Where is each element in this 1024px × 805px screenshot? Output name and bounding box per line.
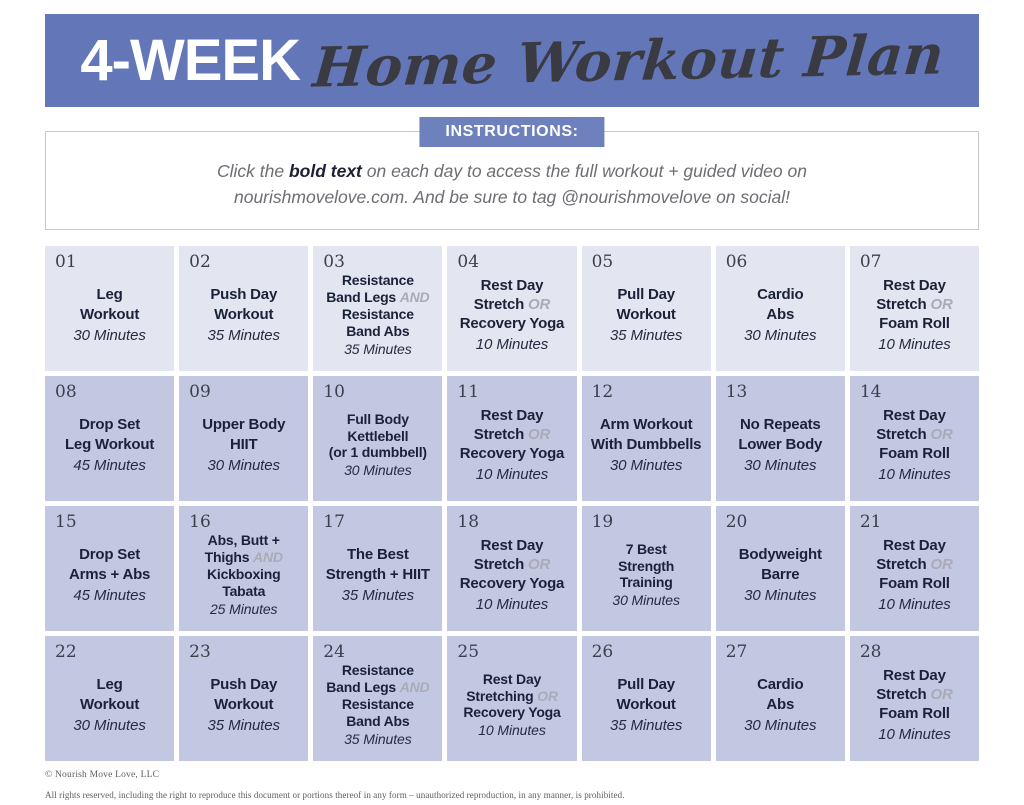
- instructions-section: INSTRUCTIONS: Click the bold text on eac…: [45, 131, 979, 230]
- header-banner: 4-WEEK Home Workout Plan: [45, 14, 979, 107]
- calendar-week-row: 15Drop Set Arms + Abs45 Minutes16Abs, Bu…: [45, 506, 979, 631]
- day-cell-body: Resistance Band Legs AND Resistance Band…: [319, 657, 436, 753]
- calendar-day-cell[interactable]: 28Rest Day Stretch OR Foam Roll10 Minute…: [850, 636, 979, 761]
- workout-title[interactable]: Drop Set Leg Workout: [65, 415, 154, 453]
- workout-title[interactable]: Rest Day Stretch OR Recovery Yoga: [460, 406, 564, 464]
- workout-title[interactable]: Bodyweight Barre: [739, 545, 822, 583]
- calendar-day-cell[interactable]: 03Resistance Band Legs AND Resistance Ba…: [313, 246, 442, 371]
- workout-duration: 10 Minutes: [476, 466, 548, 483]
- day-cell-body: Rest Day Stretch OR Foam Roll10 Minutes: [856, 397, 973, 493]
- workout-duration: 25 Minutes: [210, 601, 277, 617]
- day-cell-body: Abs, Butt + Thighs AND Kickboxing Tabata…: [185, 527, 302, 623]
- workout-duration: 10 Minutes: [878, 336, 950, 353]
- workout-connector: OR: [528, 426, 550, 443]
- calendar-day-cell[interactable]: 13No Repeats Lower Body30 Minutes: [716, 376, 845, 501]
- workout-duration: 35 Minutes: [208, 327, 280, 344]
- instructions-bold-text: bold text: [289, 161, 362, 181]
- calendar-grid: 01Leg Workout30 Minutes02Push Day Workou…: [45, 246, 979, 761]
- workout-plan-page: 4-WEEK Home Workout Plan INSTRUCTIONS: C…: [0, 14, 1024, 805]
- workout-duration: 30 Minutes: [744, 587, 816, 604]
- calendar-day-cell[interactable]: 22Leg Workout30 Minutes: [45, 636, 174, 761]
- workout-title[interactable]: Rest Day Stretch OR Recovery Yoga: [460, 276, 564, 334]
- workout-duration: 35 Minutes: [344, 731, 411, 747]
- workout-duration: 35 Minutes: [342, 587, 414, 604]
- day-cell-body: Full Body Kettlebell (or 1 dumbbell)30 M…: [319, 397, 436, 493]
- day-cell-body: Arm Workout With Dumbbells30 Minutes: [588, 397, 705, 493]
- footer-copyright: © Nourish Move Love, LLC: [45, 770, 979, 780]
- workout-title[interactable]: The Best Strength + HIIT: [326, 545, 430, 583]
- day-cell-body: The Best Strength + HIIT35 Minutes: [319, 527, 436, 623]
- workout-duration: 30 Minutes: [610, 457, 682, 474]
- calendar-day-cell[interactable]: 23Push Day Workout35 Minutes: [179, 636, 308, 761]
- workout-name-part: Recovery Yoga: [460, 315, 564, 332]
- calendar-day-cell[interactable]: 02Push Day Workout35 Minutes: [179, 246, 308, 371]
- workout-title[interactable]: 7 Best Strength Training: [618, 541, 674, 591]
- workout-title[interactable]: Pull Day Workout: [617, 285, 676, 323]
- day-cell-body: Rest Day Stretch OR Foam Roll10 Minutes: [856, 527, 973, 623]
- day-cell-body: Leg Workout30 Minutes: [51, 657, 168, 753]
- calendar-day-cell[interactable]: 15Drop Set Arms + Abs45 Minutes: [45, 506, 174, 631]
- day-cell-body: Cardio Abs30 Minutes: [722, 267, 839, 363]
- instructions-line-2: nourishmovelove.com. And be sure to tag …: [76, 184, 948, 210]
- workout-connector: OR: [930, 556, 952, 573]
- day-cell-body: Pull Day Workout35 Minutes: [588, 657, 705, 753]
- workout-name-part: Foam Roll: [879, 445, 950, 462]
- footer: © Nourish Move Love, LLC All rights rese…: [45, 770, 979, 800]
- workout-name-part: Resistance Band Abs: [342, 696, 414, 729]
- workout-name-part: Rest Day Stretching: [466, 671, 541, 704]
- workout-title[interactable]: Cardio Abs: [757, 285, 803, 323]
- workout-duration: 30 Minutes: [344, 462, 411, 478]
- workout-title[interactable]: Resistance Band Legs AND Resistance Band…: [326, 272, 429, 339]
- calendar-day-cell[interactable]: 16Abs, Butt + Thighs AND Kickboxing Taba…: [179, 506, 308, 631]
- workout-connector: OR: [537, 688, 558, 704]
- workout-duration: 35 Minutes: [610, 327, 682, 344]
- day-cell-body: Drop Set Arms + Abs45 Minutes: [51, 527, 168, 623]
- workout-duration: 45 Minutes: [73, 457, 145, 474]
- workout-duration: 35 Minutes: [344, 341, 411, 357]
- day-cell-body: Resistance Band Legs AND Resistance Band…: [319, 267, 436, 363]
- day-cell-body: 7 Best Strength Training30 Minutes: [588, 527, 705, 623]
- workout-title[interactable]: No Repeats Lower Body: [738, 415, 822, 453]
- workout-connector: AND: [400, 679, 430, 695]
- workout-title[interactable]: Rest Day Stretch OR Foam Roll: [876, 666, 952, 724]
- calendar-day-cell[interactable]: 11Rest Day Stretch OR Recovery Yoga10 Mi…: [447, 376, 576, 501]
- workout-title[interactable]: Rest Day Stretching OR Recovery Yoga: [463, 671, 560, 721]
- day-cell-body: Pull Day Workout35 Minutes: [588, 267, 705, 363]
- workout-title[interactable]: Cardio Abs: [757, 675, 803, 713]
- calendar-day-cell[interactable]: 25Rest Day Stretching OR Recovery Yoga10…: [447, 636, 576, 761]
- workout-duration: 30 Minutes: [744, 457, 816, 474]
- workout-title[interactable]: Rest Day Stretch OR Foam Roll: [876, 536, 952, 594]
- calendar-week-row: 01Leg Workout30 Minutes02Push Day Workou…: [45, 246, 979, 371]
- title-bold: 4-WEEK: [80, 32, 300, 90]
- workout-duration: 10 Minutes: [476, 596, 548, 613]
- day-cell-body: Push Day Workout35 Minutes: [185, 657, 302, 753]
- workout-duration: 10 Minutes: [478, 722, 545, 738]
- day-cell-body: Upper Body HIIT30 Minutes: [185, 397, 302, 493]
- workout-name-part: Recovery Yoga: [460, 575, 564, 592]
- workout-title[interactable]: Push Day Workout: [210, 285, 277, 323]
- workout-title[interactable]: Rest Day Stretch OR Foam Roll: [876, 406, 952, 464]
- calendar-day-cell[interactable]: 05Pull Day Workout35 Minutes: [582, 246, 711, 371]
- calendar-day-cell[interactable]: 26Pull Day Workout35 Minutes: [582, 636, 711, 761]
- day-cell-body: Rest Day Stretch OR Recovery Yoga10 Minu…: [453, 397, 570, 493]
- workout-connector: AND: [253, 549, 283, 565]
- workout-name-part: Recovery Yoga: [460, 445, 564, 462]
- day-cell-body: Rest Day Stretch OR Foam Roll10 Minutes: [856, 267, 973, 363]
- day-cell-body: Leg Workout30 Minutes: [51, 267, 168, 363]
- workout-title[interactable]: Arm Workout With Dumbbells: [591, 415, 701, 453]
- workout-duration: 30 Minutes: [208, 457, 280, 474]
- workout-name-part: Recovery Yoga: [463, 704, 560, 720]
- workout-connector: AND: [400, 289, 430, 305]
- workout-name-part: Foam Roll: [879, 705, 950, 722]
- workout-name-part: Foam Roll: [879, 575, 950, 592]
- calendar-day-cell[interactable]: 04Rest Day Stretch OR Recovery Yoga10 Mi…: [447, 246, 576, 371]
- workout-connector: OR: [930, 296, 952, 313]
- day-cell-body: Rest Day Stretch OR Recovery Yoga10 Minu…: [453, 527, 570, 623]
- workout-duration: 45 Minutes: [73, 587, 145, 604]
- workout-duration: 30 Minutes: [744, 327, 816, 344]
- instructions-badge: INSTRUCTIONS:: [419, 117, 604, 147]
- day-cell-body: Rest Day Stretch OR Foam Roll10 Minutes: [856, 657, 973, 753]
- calendar-day-cell[interactable]: 08Drop Set Leg Workout45 Minutes: [45, 376, 174, 501]
- calendar-day-cell[interactable]: 21Rest Day Stretch OR Foam Roll10 Minute…: [850, 506, 979, 631]
- calendar-day-cell[interactable]: 24Resistance Band Legs AND Resistance Ba…: [313, 636, 442, 761]
- calendar-day-cell[interactable]: 10Full Body Kettlebell (or 1 dumbbell)30…: [313, 376, 442, 501]
- calendar-day-cell[interactable]: 27Cardio Abs30 Minutes: [716, 636, 845, 761]
- workout-name-part: Kickboxing Tabata: [207, 566, 280, 599]
- workout-title[interactable]: Abs, Butt + Thighs AND Kickboxing Tabata: [205, 532, 283, 599]
- workout-duration: 30 Minutes: [73, 717, 145, 734]
- instructions-line-1: Click the bold text on each day to acces…: [76, 158, 948, 184]
- workout-title[interactable]: Pull Day Workout: [617, 675, 676, 713]
- calendar-week-row: 08Drop Set Leg Workout45 Minutes09Upper …: [45, 376, 979, 501]
- calendar-day-cell[interactable]: 06Cardio Abs30 Minutes: [716, 246, 845, 371]
- workout-title[interactable]: Full Body Kettlebell (or 1 dumbbell): [329, 411, 427, 461]
- workout-connector: OR: [528, 296, 550, 313]
- calendar-day-cell[interactable]: 197 Best Strength Training30 Minutes: [582, 506, 711, 631]
- day-cell-body: Drop Set Leg Workout45 Minutes: [51, 397, 168, 493]
- workout-duration: 30 Minutes: [612, 592, 679, 608]
- workout-connector: OR: [930, 686, 952, 703]
- day-cell-body: Push Day Workout35 Minutes: [185, 267, 302, 363]
- workout-duration: 35 Minutes: [208, 717, 280, 734]
- workout-duration: 30 Minutes: [73, 327, 145, 344]
- day-cell-body: Rest Day Stretching OR Recovery Yoga10 M…: [453, 657, 570, 753]
- workout-connector: OR: [528, 556, 550, 573]
- workout-name-part: Foam Roll: [879, 315, 950, 332]
- workout-duration: 10 Minutes: [878, 596, 950, 613]
- title-script: Home Workout Plan: [311, 26, 947, 94]
- workout-duration: 10 Minutes: [476, 336, 548, 353]
- calendar-day-cell[interactable]: 01Leg Workout30 Minutes: [45, 246, 174, 371]
- workout-title[interactable]: Leg Workout: [80, 675, 139, 713]
- workout-title[interactable]: Leg Workout: [80, 285, 139, 323]
- workout-title[interactable]: Rest Day Stretch OR Recovery Yoga: [460, 536, 564, 594]
- calendar-day-cell[interactable]: 20Bodyweight Barre30 Minutes: [716, 506, 845, 631]
- instructions-suffix: on each day to access the full workout +…: [362, 161, 807, 181]
- workout-title[interactable]: Resistance Band Legs AND Resistance Band…: [326, 662, 429, 729]
- calendar-day-cell[interactable]: 09Upper Body HIIT30 Minutes: [179, 376, 308, 501]
- day-cell-body: Cardio Abs30 Minutes: [722, 657, 839, 753]
- workout-name-part: Resistance Band Abs: [342, 306, 414, 339]
- workout-duration: 10 Minutes: [878, 726, 950, 743]
- instructions-prefix: Click the: [217, 161, 289, 181]
- calendar-day-cell[interactable]: 07Rest Day Stretch OR Foam Roll10 Minute…: [850, 246, 979, 371]
- day-cell-body: Rest Day Stretch OR Recovery Yoga10 Minu…: [453, 267, 570, 363]
- day-cell-body: Bodyweight Barre30 Minutes: [722, 527, 839, 623]
- workout-duration: 10 Minutes: [878, 466, 950, 483]
- calendar-day-cell[interactable]: 14Rest Day Stretch OR Foam Roll10 Minute…: [850, 376, 979, 501]
- footer-rights-text: All rights reserved, including the right…: [45, 790, 979, 800]
- workout-title[interactable]: Drop Set Arms + Abs: [69, 545, 150, 583]
- workout-duration: 30 Minutes: [744, 717, 816, 734]
- workout-duration: 35 Minutes: [610, 717, 682, 734]
- calendar-day-cell[interactable]: 12Arm Workout With Dumbbells30 Minutes: [582, 376, 711, 501]
- calendar-day-cell[interactable]: 17The Best Strength + HIIT35 Minutes: [313, 506, 442, 631]
- day-cell-body: No Repeats Lower Body30 Minutes: [722, 397, 839, 493]
- calendar-week-row: 22Leg Workout30 Minutes23Push Day Workou…: [45, 636, 979, 761]
- workout-title[interactable]: Upper Body HIIT: [202, 415, 285, 453]
- workout-title[interactable]: Rest Day Stretch OR Foam Roll: [876, 276, 952, 334]
- workout-connector: OR: [930, 426, 952, 443]
- workout-title[interactable]: Push Day Workout: [210, 675, 277, 713]
- calendar-day-cell[interactable]: 18Rest Day Stretch OR Recovery Yoga10 Mi…: [447, 506, 576, 631]
